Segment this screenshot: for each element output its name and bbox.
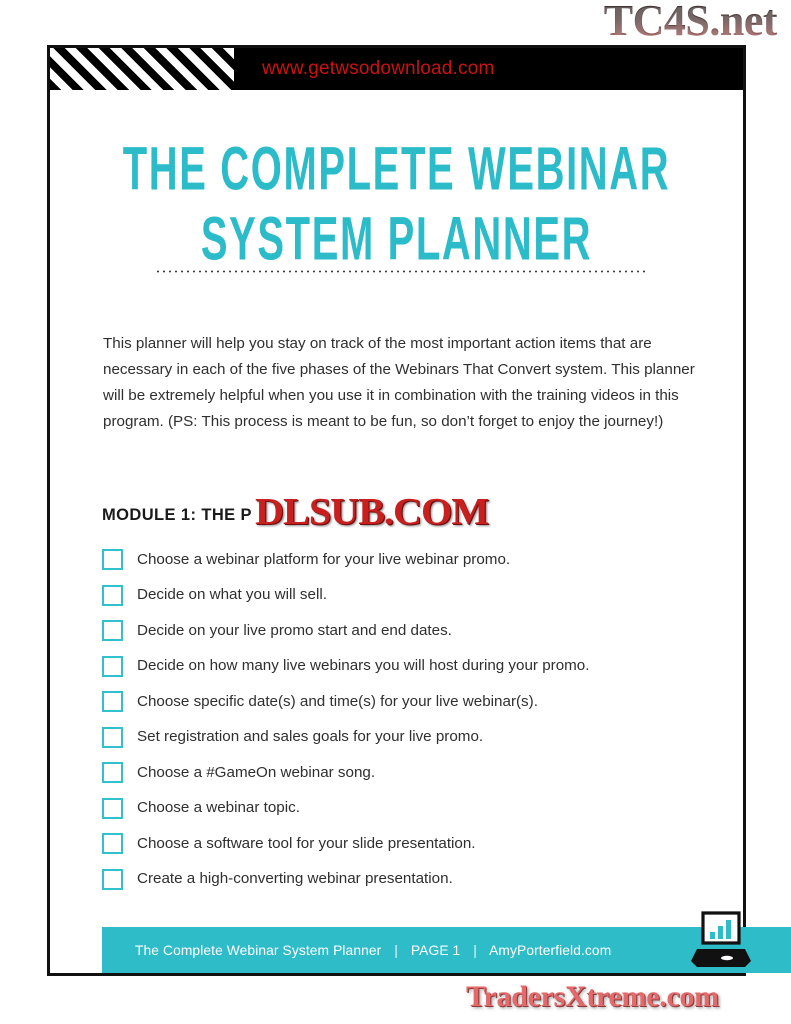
checkbox-icon[interactable] bbox=[102, 798, 123, 819]
checkbox-icon[interactable] bbox=[102, 727, 123, 748]
diagonal-stripes-decoration bbox=[50, 48, 234, 90]
checklist-item-label: Decide on how many live webinars you wil… bbox=[137, 656, 589, 676]
checklist-item-label: Choose specific date(s) and time(s) for … bbox=[137, 692, 538, 712]
checkbox-icon[interactable] bbox=[102, 585, 123, 606]
footer-separator-1: | bbox=[385, 943, 407, 958]
footer-doc-name: The Complete Webinar System Planner bbox=[135, 943, 381, 958]
checkbox-icon[interactable] bbox=[102, 656, 123, 677]
dotted-divider bbox=[155, 270, 645, 273]
checklist-item-label: Set registration and sales goals for you… bbox=[137, 727, 483, 747]
checklist-item-label: Choose a #GameOn webinar song. bbox=[137, 763, 375, 783]
intro-paragraph: This planner will help you stay on track… bbox=[103, 331, 703, 435]
checklist-item[interactable]: Create a high-converting webinar present… bbox=[102, 862, 722, 898]
checkbox-icon[interactable] bbox=[102, 549, 123, 570]
checkbox-icon[interactable] bbox=[102, 691, 123, 712]
document-page: TC4S.net www.getwsodownload.com THE COMP… bbox=[0, 0, 791, 1024]
watermark-getwsodownload: www.getwsodownload.com bbox=[262, 58, 495, 80]
checklist-item-label: Decide on what you will sell. bbox=[137, 585, 327, 605]
watermark-tradersxtreme: TradersXtreme.com bbox=[466, 980, 719, 1014]
checkbox-icon[interactable] bbox=[102, 762, 123, 783]
checklist-item[interactable]: Decide on your live promo start and end … bbox=[102, 613, 722, 649]
watermark-tc4s: TC4S.net bbox=[604, 0, 777, 44]
checkbox-icon[interactable] bbox=[102, 833, 123, 854]
checklist-item[interactable]: Choose a webinar platform for your live … bbox=[102, 542, 722, 578]
checklist-item[interactable]: Decide on how many live webinars you wil… bbox=[102, 649, 722, 685]
laptop-chart-icon bbox=[689, 909, 753, 971]
checklist-item[interactable]: Choose a webinar topic. bbox=[102, 791, 722, 827]
checklist-item[interactable]: Decide on what you will sell. bbox=[102, 578, 722, 614]
checklist-item[interactable]: Choose a #GameOn webinar song. bbox=[102, 755, 722, 791]
checklist-item-label: Choose a webinar platform for your live … bbox=[137, 550, 510, 570]
footer-bar: The Complete Webinar System Planner | PA… bbox=[102, 927, 791, 973]
footer-text: The Complete Webinar System Planner | PA… bbox=[135, 943, 611, 958]
footer-website: AmyPorterfield.com bbox=[489, 943, 611, 958]
module-heading: MODULE 1: THE P bbox=[102, 506, 252, 525]
checklist-item[interactable]: Set registration and sales goals for you… bbox=[102, 720, 722, 756]
footer-separator-2: | bbox=[464, 943, 486, 958]
watermark-dlsub: DLSUB.COM bbox=[255, 492, 488, 532]
footer-page-number: PAGE 1 bbox=[411, 943, 460, 958]
checkbox-icon[interactable] bbox=[102, 620, 123, 641]
checkbox-icon[interactable] bbox=[102, 869, 123, 890]
planner-sheet: www.getwsodownload.com THE COMPLETE WEBI… bbox=[47, 45, 746, 976]
checklist-item-label: Choose a software tool for your slide pr… bbox=[137, 834, 476, 854]
title-line-2: SYSTEM PLANNER bbox=[119, 196, 673, 281]
checklist-item[interactable]: Choose a software tool for your slide pr… bbox=[102, 826, 722, 862]
checklist-item-label: Create a high-converting webinar present… bbox=[137, 869, 453, 889]
checklist-item-label: Choose a webinar topic. bbox=[137, 798, 300, 818]
page-title: THE COMPLETE WEBINAR SYSTEM PLANNER bbox=[50, 126, 743, 266]
checklist-item-label: Decide on your live promo start and end … bbox=[137, 621, 452, 641]
checklist: Choose a webinar platform for your live … bbox=[102, 542, 722, 897]
checklist-item[interactable]: Choose specific date(s) and time(s) for … bbox=[102, 684, 722, 720]
header-band: www.getwsodownload.com bbox=[50, 48, 743, 90]
